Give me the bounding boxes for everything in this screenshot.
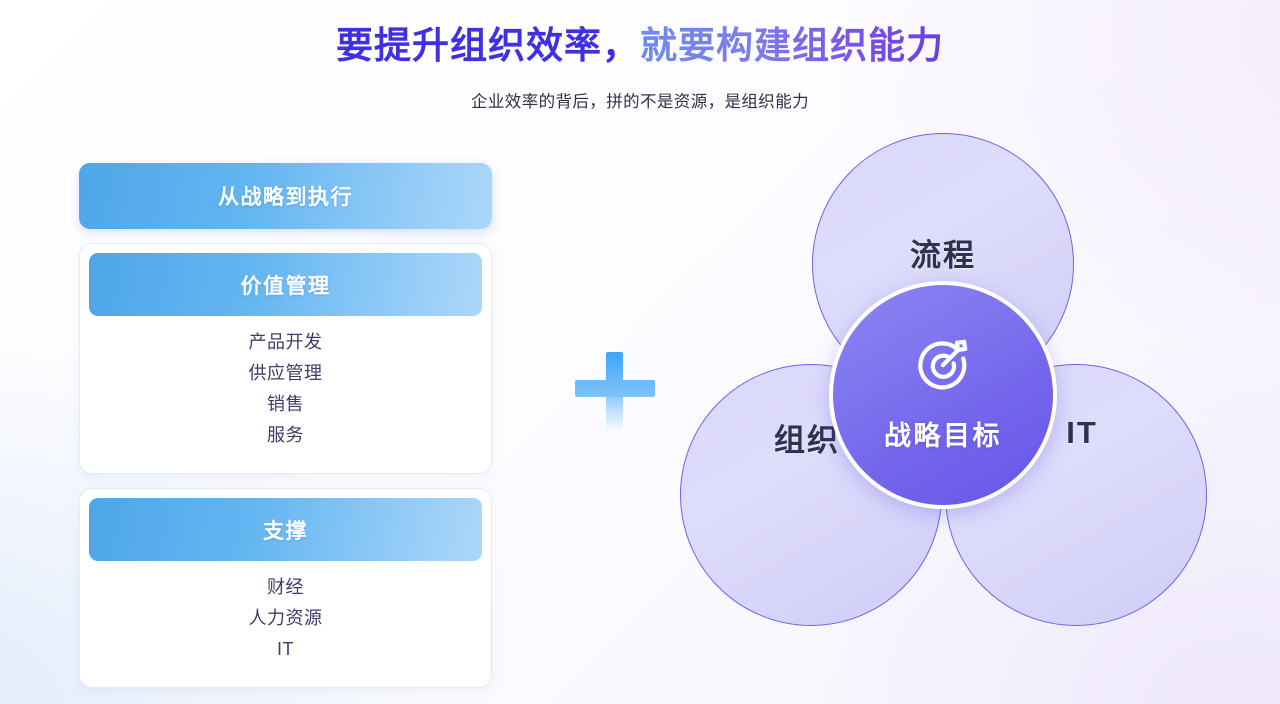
value-management-list: 产品开发 供应管理 销售 服务 [89,316,482,463]
page-title-part2: 就要构建组织能力 [640,25,944,66]
page-subtitle: 企业效率的背后，拼的不是资源，是组织能力 [0,88,1280,112]
list-item: 产品开发 [89,327,482,358]
left-panel: 从战略到执行 价值管理 产品开发 供应管理 销售 服务 支撑 财经 人力资源 I… [79,163,492,688]
strategy-to-execution-bar[interactable]: 从战略到执行 [79,163,492,229]
value-management-header[interactable]: 价值管理 [89,253,482,316]
slide-canvas: 要提升组织效率，就要构建组织能力 企业效率的背后，拼的不是资源，是组织能力 从战… [0,0,1280,704]
list-item: 人力资源 [89,603,482,634]
list-item: 销售 [89,389,482,420]
list-item: 供应管理 [89,358,482,389]
support-list: 财经 人力资源 IT [89,561,482,677]
venn-lobe-organization-label: 组织 [774,415,840,460]
page-title: 要提升组织效率，就要构建组织能力 [0,22,1280,70]
venn-core-label: 战略目标 [884,414,1002,453]
venn-core-strategic-goal[interactable]: 战略目标 [829,281,1057,509]
venn-lobe-it-label: IT [1066,415,1098,451]
plus-horizontal-stroke [575,380,655,397]
list-item: IT [89,634,482,665]
list-item: 财经 [89,572,482,603]
venn-lobe-process-label: 流程 [910,230,976,275]
target-arrow-icon [911,333,975,402]
value-management-card: 价值管理 产品开发 供应管理 销售 服务 [79,243,492,474]
list-item: 服务 [89,420,482,451]
support-header[interactable]: 支撑 [89,498,482,561]
plus-sign-icon [575,352,655,432]
venn-diagram: 流程 组织 IT 战略目标 [676,120,1232,684]
page-title-part1: 要提升组织效率， [336,25,640,66]
header: 要提升组织效率，就要构建组织能力 企业效率的背后，拼的不是资源，是组织能力 [0,0,1280,112]
support-card: 支撑 财经 人力资源 IT [79,488,492,688]
